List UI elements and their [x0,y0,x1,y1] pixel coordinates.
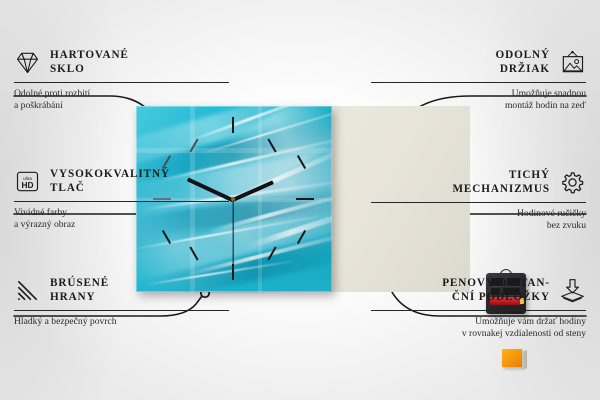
divider [371,82,586,83]
feature-desc: Hladký a bezpečný povrch [14,316,229,328]
stacked-layers-arrow-icon [559,278,586,303]
feature-high-quality-print: ultra HD VYSOKOKVALITNÝ TLAČ Vividné far… [14,168,229,230]
second-hand [232,200,233,268]
divider [371,202,586,203]
feature-foam-spacers: PENOVÝ DISTAN- ČNÍ PODLOŽKY Umožňuje vám… [371,277,586,339]
ultra-hd-icon: ultra HD [14,169,41,194]
svg-text:HD: HD [21,180,33,190]
feature-title: PENOVÝ DISTAN- ČNÍ PODLOŽKY [442,277,550,304]
feature-desc: Umožňuje snadnou montáž hodin na zeď [371,88,586,111]
feature-tempered-glass: HARTOVANÉ SKLO Odolné proti rozbití a po… [14,49,229,111]
feature-title: HARTOVANÉ SKLO [50,49,129,76]
divider [14,82,229,83]
mechanism-hook [500,269,512,277]
tick-12 [232,117,234,133]
diamond-icon [14,50,41,75]
center-pin [231,197,235,201]
infographic-stage: HARTOVANÉ SKLO Odolné proti rozbití a po… [0,0,600,400]
feature-durable-hanger: ODOLNÝ DRŽIAK Umožňuje snadnou montáž ho… [371,49,586,111]
divider [371,310,586,311]
feature-title: VYSOKOKVALITNÝ TLAČ [50,168,170,195]
gear-icon [559,170,586,195]
feature-desc: Odolné proti rozbití a poškrábání [14,88,229,111]
picture-frame-icon [559,50,586,75]
feature-desc: Hodinové ručičky bez zvuku [371,208,586,231]
diagonal-lines-icon [14,278,41,303]
feature-silent-mechanism: TICHÝ MECHANIZMUS Hodinové ručičky bez z… [371,169,586,231]
foam-spacer-pad [502,349,522,367]
divider [14,310,229,311]
feature-title: BRÚSENÉ HRANY [50,277,109,304]
feature-title: TICHÝ MECHANIZMUS [452,169,550,196]
feature-desc: Vividné farby a výrazný obraz [14,207,229,230]
tick-3 [296,198,314,200]
feature-ground-edges: BRÚSENÉ HRANY Hladký a bezpečný povrch [14,277,229,328]
feature-desc: Umožňuje vám držať hodiny v rovnakej vzd… [371,316,586,339]
feature-title: ODOLNÝ DRŽIAK [495,49,550,76]
divider [14,201,229,202]
